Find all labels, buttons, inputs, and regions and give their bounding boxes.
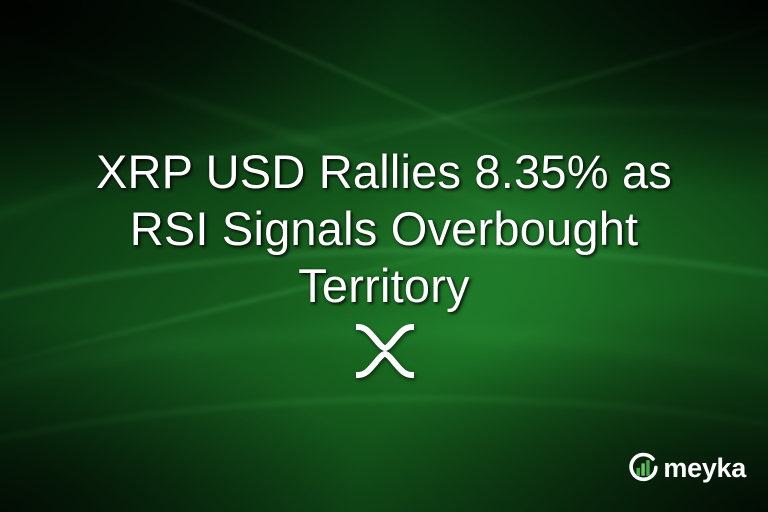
brand-name: meyka	[663, 455, 746, 482]
brand-lockup: meyka	[627, 451, 746, 484]
page-title: XRP USD Rallies 8.35% as RSI Signals Ove…	[0, 143, 768, 314]
xrp-icon	[356, 324, 414, 378]
light-streak-4	[312, 0, 768, 157]
wave-ribbon-8	[0, 385, 768, 512]
social-card: XRP USD Rallies 8.35% as RSI Signals Ove…	[0, 0, 768, 512]
meyka-circle-bars-icon	[627, 451, 660, 484]
